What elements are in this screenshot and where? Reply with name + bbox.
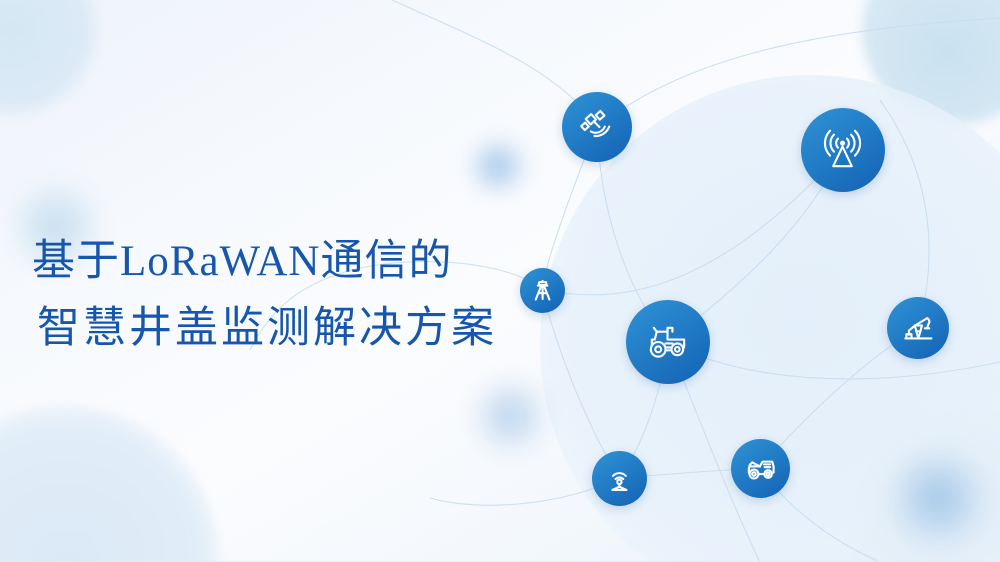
radio-tower-icon [819, 126, 866, 173]
decor-blob-bottom-right [860, 420, 1000, 562]
satellite-signal-icon [577, 107, 616, 146]
decor-dot-bottom-right [890, 450, 986, 546]
node-radio-tower[interactable] [801, 108, 885, 192]
node-wifi-sensor[interactable] [592, 451, 647, 506]
title-slide: 基于LoRaWAN通信的 智慧井盖监测解决方案 [0, 0, 1000, 562]
decor-dot-middle [472, 378, 548, 454]
decor-blob-top-right [862, 0, 1000, 124]
node-tractor[interactable] [626, 300, 710, 384]
slide-title: 基于LoRaWAN通信的 智慧井盖监测解决方案 [32, 228, 572, 362]
node-satellite[interactable] [562, 92, 632, 162]
title-line-1: 基于LoRaWAN通信的 [32, 228, 572, 295]
tractor-icon [644, 318, 691, 365]
decor-blob-top-left [0, 0, 102, 120]
title-line-2: 智慧井盖监测解决方案 [32, 295, 572, 362]
decor-blob-bottom-left [0, 405, 220, 562]
oil-pumpjack-icon [901, 311, 936, 346]
survey-tripod-icon [530, 278, 555, 303]
decor-dot-upper-left [470, 138, 526, 194]
node-oil-pumpjack[interactable] [887, 297, 949, 359]
harvester-icon [744, 452, 777, 485]
node-harvester[interactable] [731, 439, 790, 498]
wifi-sensor-node-icon [604, 463, 635, 494]
node-survey-tripod[interactable] [520, 268, 565, 313]
